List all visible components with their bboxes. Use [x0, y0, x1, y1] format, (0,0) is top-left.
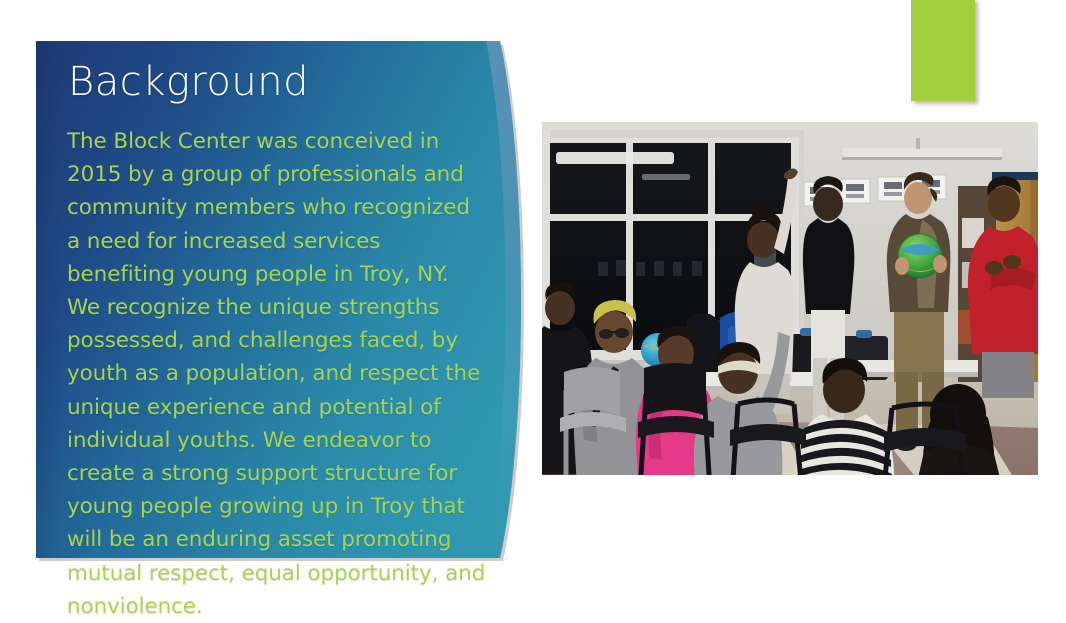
slide-canvas: Background The Block Center was conceive… — [0, 0, 1066, 600]
text-panel: Background The Block Center was conceive… — [36, 40, 528, 559]
body-paragraph: The Block Center was conceived in 2015 b… — [67, 125, 487, 623]
classroom-photo-graphic — [542, 122, 1038, 475]
green-accent-rectangle — [911, 0, 975, 101]
classroom-photo — [542, 122, 1038, 475]
panel-content: Background The Block Center was conceive… — [36, 40, 476, 559]
page-title: Background — [68, 57, 309, 107]
photo-alt-text: Group of young people in a classroom, se… — [0, 0, 1, 1]
